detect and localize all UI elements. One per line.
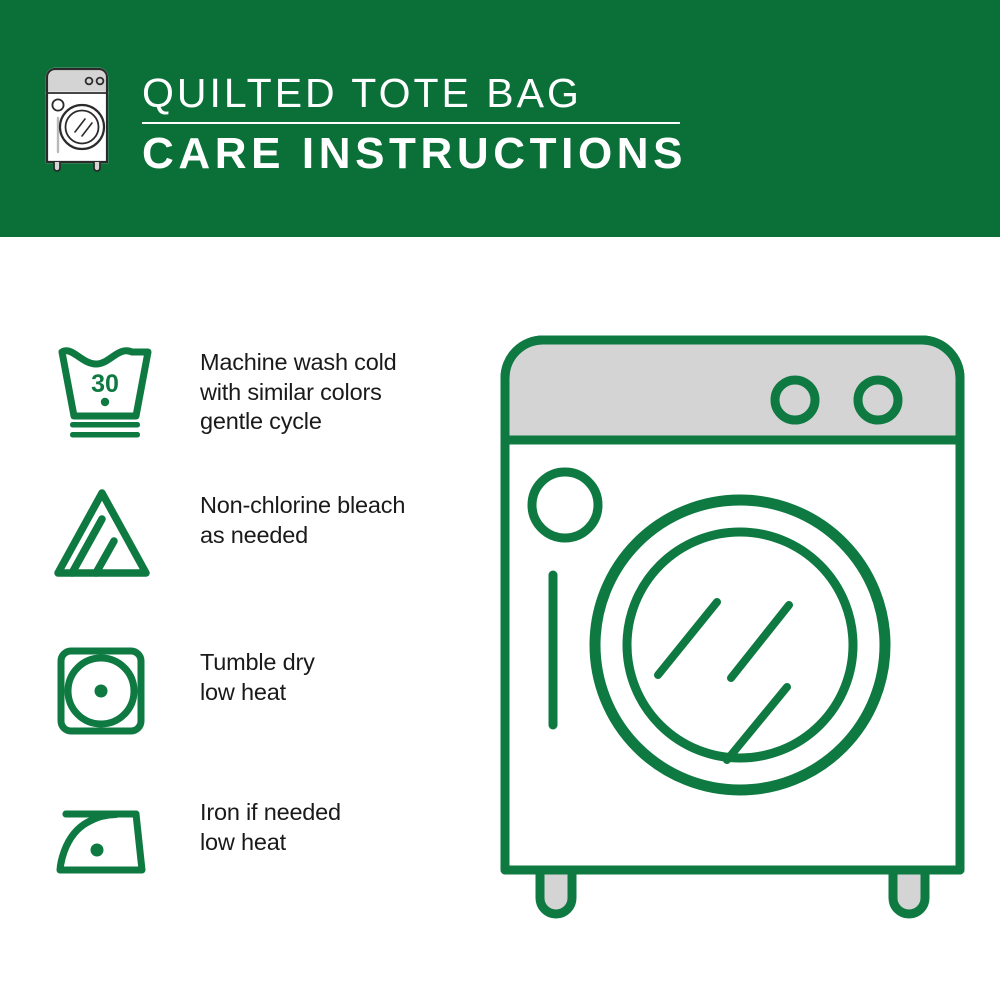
iron-low-heat-icon <box>50 792 162 888</box>
care-label-machine-wash: Machine wash cold with similar colors ge… <box>200 342 396 437</box>
title-divider <box>142 122 680 124</box>
care-row-tumble-dry: Tumble dry low heat <box>50 642 470 738</box>
tumble-dry-low-icon <box>50 642 162 738</box>
care-instruction-list: 30 Machine wash cold with similar colors… <box>0 237 470 1000</box>
care-label-iron: Iron if needed low heat <box>200 792 341 857</box>
care-row-bleach: Non-chlorine bleach as needed <box>50 485 470 581</box>
machine-wash-cold-icon: 30 <box>50 342 162 438</box>
leg-right <box>893 870 925 914</box>
non-chlorine-bleach-icon <box>50 485 162 581</box>
care-label-bleach: Non-chlorine bleach as needed <box>200 485 405 550</box>
care-instructions-infographic: QUILTED TOTE BAG CARE INSTRUCTIONS 30 <box>0 0 1000 1000</box>
product-title: QUILTED TOTE BAG <box>142 70 702 116</box>
header-title-group: QUILTED TOTE BAG CARE INSTRUCTIONS <box>142 70 702 179</box>
washing-machine-illustration <box>495 330 970 930</box>
care-row-iron: Iron if needed low heat <box>50 792 470 888</box>
page-title: CARE INSTRUCTIONS <box>142 129 702 179</box>
care-row-machine-wash: 30 Machine wash cold with similar colors… <box>50 342 470 438</box>
leg-left <box>540 870 572 914</box>
care-label-tumble-dry: Tumble dry low heat <box>200 642 315 707</box>
wash-temperature-label: 30 <box>91 370 119 398</box>
header-banner: QUILTED TOTE BAG CARE INSTRUCTIONS <box>0 0 1000 237</box>
washing-machine-logo-icon <box>44 66 110 172</box>
